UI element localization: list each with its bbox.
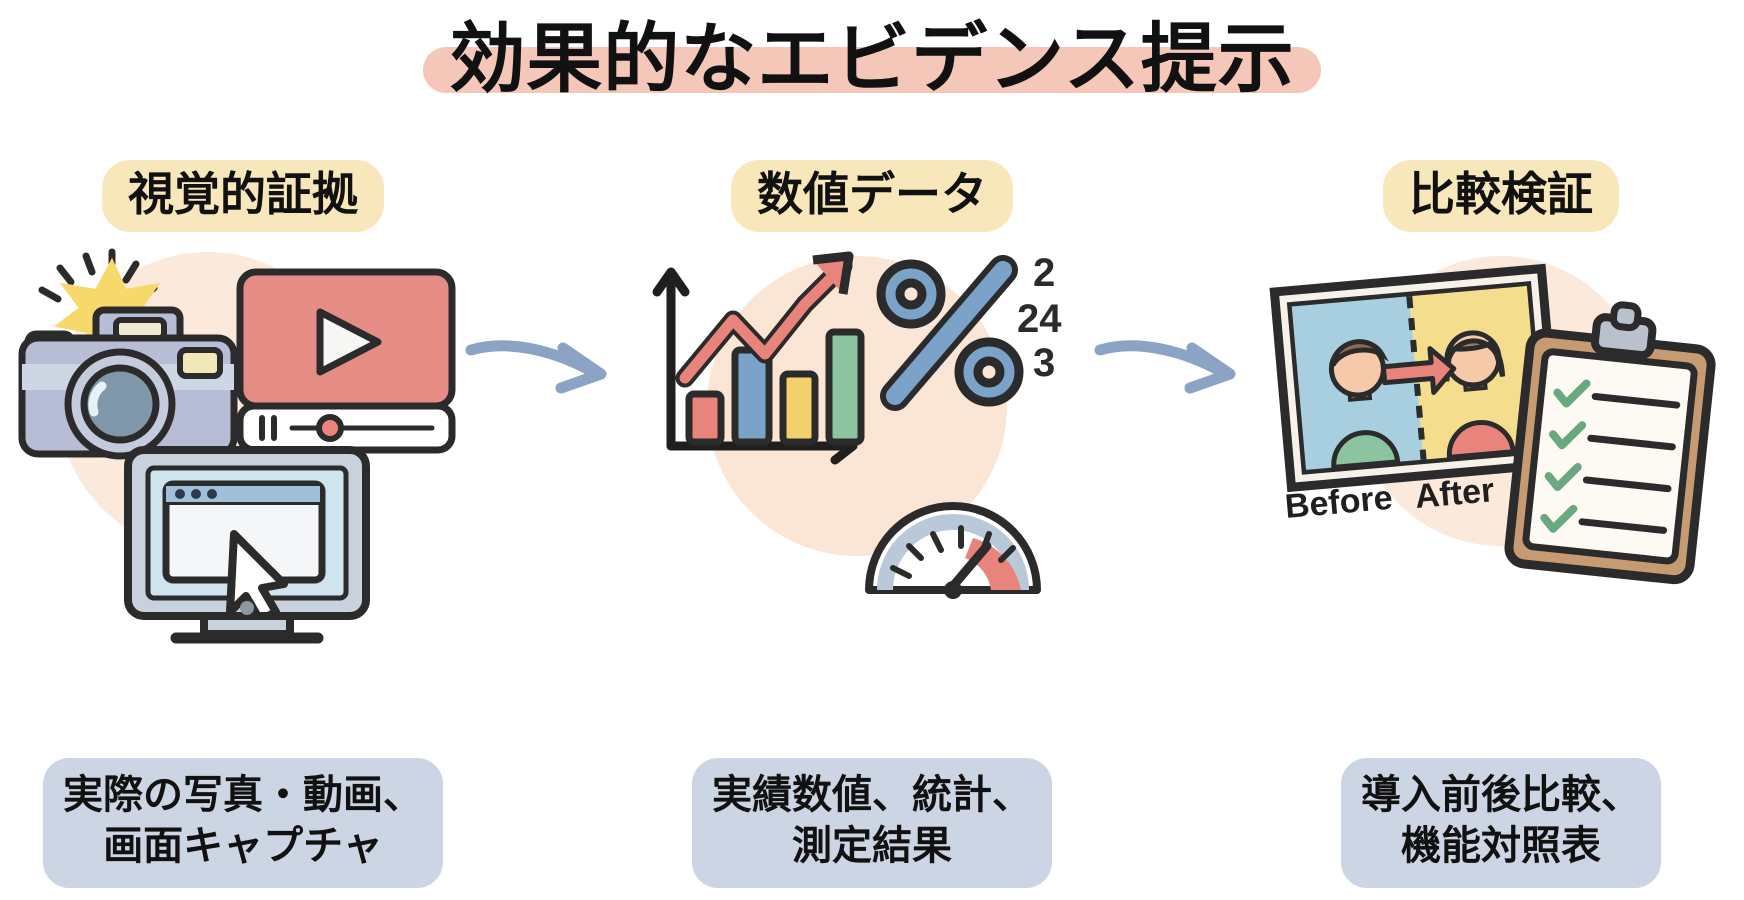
bar-2 <box>735 350 769 442</box>
column-heading-visual-evidence: 視覚的証拠 <box>102 160 384 232</box>
label-before: Before <box>1283 479 1394 526</box>
caption-line: 導入前後比較、 <box>1361 770 1641 821</box>
arrow-numeric-to-comparison-icon <box>1094 328 1244 398</box>
video-player-icon <box>240 272 452 450</box>
number-3: 3 <box>1033 341 1055 385</box>
caption-line: 実績数値、統計、 <box>712 770 1032 821</box>
illustration-visual-evidence <box>8 246 478 646</box>
bar-1 <box>689 394 721 442</box>
column-heading-comparison-validation: 比較検証 <box>1383 160 1619 232</box>
caption-visual-evidence: 実際の写真・動画、 画面キャプチャ <box>43 758 443 888</box>
label-after: After <box>1413 471 1495 516</box>
trend-arrow-icon <box>685 256 849 378</box>
caption-line: 測定結果 <box>712 821 1032 872</box>
column-comparison-validation: 比較検証 <box>1266 150 1736 890</box>
bar-3 <box>783 374 815 442</box>
column-heading-numeric-data: 数値データ <box>731 160 1013 232</box>
progress-knob-icon <box>319 417 341 439</box>
column-visual-evidence: 視覚的証拠 <box>8 150 478 890</box>
number-1: 2 <box>1033 251 1055 295</box>
caption-line: 実際の写真・動画、 <box>63 770 423 821</box>
arrow-visual-to-numeric-icon <box>465 328 615 398</box>
caption-line: 画面キャプチャ <box>63 821 423 872</box>
caption-line: 機能対照表 <box>1361 821 1641 872</box>
page-title-text: 効果的なエビデンス提示 <box>449 15 1294 105</box>
percent-numbers: 2 24 3 <box>1017 251 1062 385</box>
number-2: 24 <box>1017 297 1062 341</box>
gauge-icon <box>869 506 1037 599</box>
camera-icon <box>22 310 234 456</box>
column-numeric-data: 数値データ <box>637 150 1107 890</box>
page-title: 効果的なエビデンス提示 <box>0 0 1744 120</box>
flow-columns: 視覚的証拠 <box>0 150 1744 900</box>
monitor-screenshot-icon <box>128 450 366 638</box>
caption-numeric-data: 実績数値、統計、 測定結果 <box>692 758 1052 888</box>
bar-4 <box>829 332 861 442</box>
caption-comparison-validation: 導入前後比較、 機能対照表 <box>1341 758 1661 888</box>
percent-icon <box>881 264 1019 402</box>
illustration-comparison-validation: Before After <box>1266 246 1736 646</box>
illustration-numeric-data: 2 24 3 <box>637 246 1107 646</box>
clipboard-checklist-icon <box>1507 296 1716 582</box>
